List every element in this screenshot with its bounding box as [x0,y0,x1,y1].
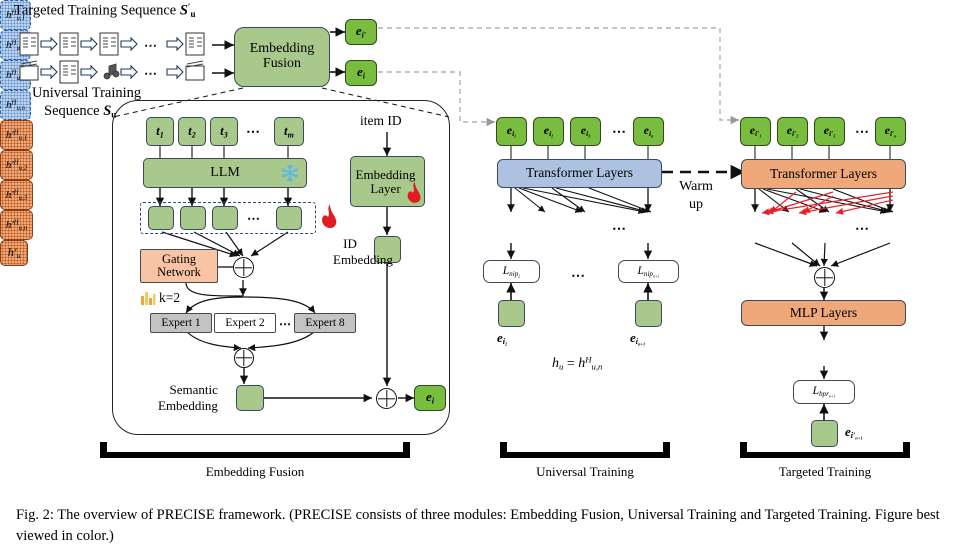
badge-ellipsis-targeted: ⋯ [855,124,870,141]
badge-e-iprimen: ei′n [875,117,906,146]
badge-e-i-fusion-output: ei [414,385,446,411]
loss-ellipsis-universal: ⋯ [571,268,586,285]
plus-operator-targeted [814,267,835,288]
user-representation-prime: h′u [0,240,28,266]
svg-text:⋯: ⋯ [144,66,157,81]
expert-1[interactable]: Expert 1 [150,313,212,333]
loss-input-e-iprimen1-label: ei′n+1 [845,424,862,441]
user-representation-equation: hu = hHu,n [552,355,602,372]
badge-e-in: ein [633,117,664,146]
badge-ellipsis-universal: ⋯ [612,124,627,141]
flame-icon-embedding-layer [404,180,422,209]
hidden-state-prime-u3: h′Hu,3 [0,180,33,210]
bracket-universal-training [500,442,670,458]
loss-nip-n1: Lnipn+1 [618,260,679,283]
id-embedding-label: ID Embedding [333,236,367,267]
hidden-state-1 [148,206,174,230]
mlp-layers-box[interactable]: MLP Layers [741,300,906,326]
hidden-state-prime-un: h′Hu,n [0,210,33,240]
transformer-layers-universal[interactable]: Transformer Layers [497,159,662,188]
badge-e-iprime1: ei′1 [740,117,771,146]
bar-chart-icon [140,290,156,311]
hidden-state-prime-u2: h′Hu,2 [0,150,33,180]
targeted-sequence-label: Targeted Training Sequence S′u [14,2,195,19]
hidden-state-ellipsis: ⋯ [247,211,261,227]
transformer-layers-targeted[interactable]: Transformer Layers [741,159,906,189]
loss-nip-2: Lnip2 [483,260,540,283]
item-id-label: item ID [360,113,402,129]
badge-e-i1: ei1 [496,117,527,146]
badge-e-i3: ei3 [570,117,601,146]
svg-text:⋯: ⋯ [144,38,157,53]
bracket-embedding-fusion [100,442,410,458]
hidden-state-3 [212,206,238,230]
expert-2[interactable]: Expert 2 [214,313,276,333]
token-t2: t2 [178,117,206,146]
loss-input-e-in1-label: ein+1 [630,330,645,347]
plus-operator-experts [234,348,254,368]
figure-caption: Fig. 2: The overview of PRECISE framewor… [16,505,952,547]
token-tm: tm [274,117,304,146]
loss-input-e-i2-box [498,300,525,327]
warmup-label: Warm up [673,178,719,213]
badge-e-i-prime: ei′ [345,19,377,45]
bracket-targeted-training [740,442,910,458]
semantic-embedding-box [236,385,264,411]
loss-bpr: Lbprn+1 [793,380,855,404]
token-t3: t3 [210,117,238,146]
hidden-state-ellipsis-universal: ⋯ [612,221,627,238]
hidden-state-un: hHu,n [0,90,31,120]
badge-e-i-top: ei [345,60,377,86]
panel-label-universal-training: Universal Training [500,464,670,480]
token-ellipsis: ⋯ [246,124,261,141]
semantic-embedding-label: Semantic Embedding [158,382,218,413]
topk-label: k=2 [159,290,180,306]
embedding-fusion-box[interactable]: EmbeddingFusion [234,27,330,87]
gating-network-box[interactable]: GatingNetwork [140,249,218,283]
hidden-state-prime-u1: h′Hu,1 [0,120,33,150]
badge-e-i2: ei2 [533,117,564,146]
hidden-state-n [276,206,302,230]
plus-operator-tokens [233,257,254,278]
badge-e-iprime2: ei′2 [777,117,808,146]
panel-label-targeted-training: Targeted Training [740,464,910,480]
expert-8[interactable]: Expert 8 [294,313,356,333]
loss-input-e-in1-box [635,300,662,327]
loss-input-e-i2-label: ei2 [497,330,507,347]
badge-e-iprime3: ei′3 [814,117,845,146]
plus-operator-final-fusion [376,388,397,409]
hidden-state-ellipsis-targeted: ⋯ [855,221,870,238]
hidden-state-2 [180,206,206,230]
panel-label-embedding-fusion: Embedding Fusion [100,464,410,480]
token-t1: t1 [146,117,174,146]
flame-icon-hidden-states [318,203,338,234]
expert-ellipsis: ⋯ [279,317,292,332]
targeted-sequence-icons: ⋯ [18,30,214,60]
snowflake-icon [281,164,299,187]
